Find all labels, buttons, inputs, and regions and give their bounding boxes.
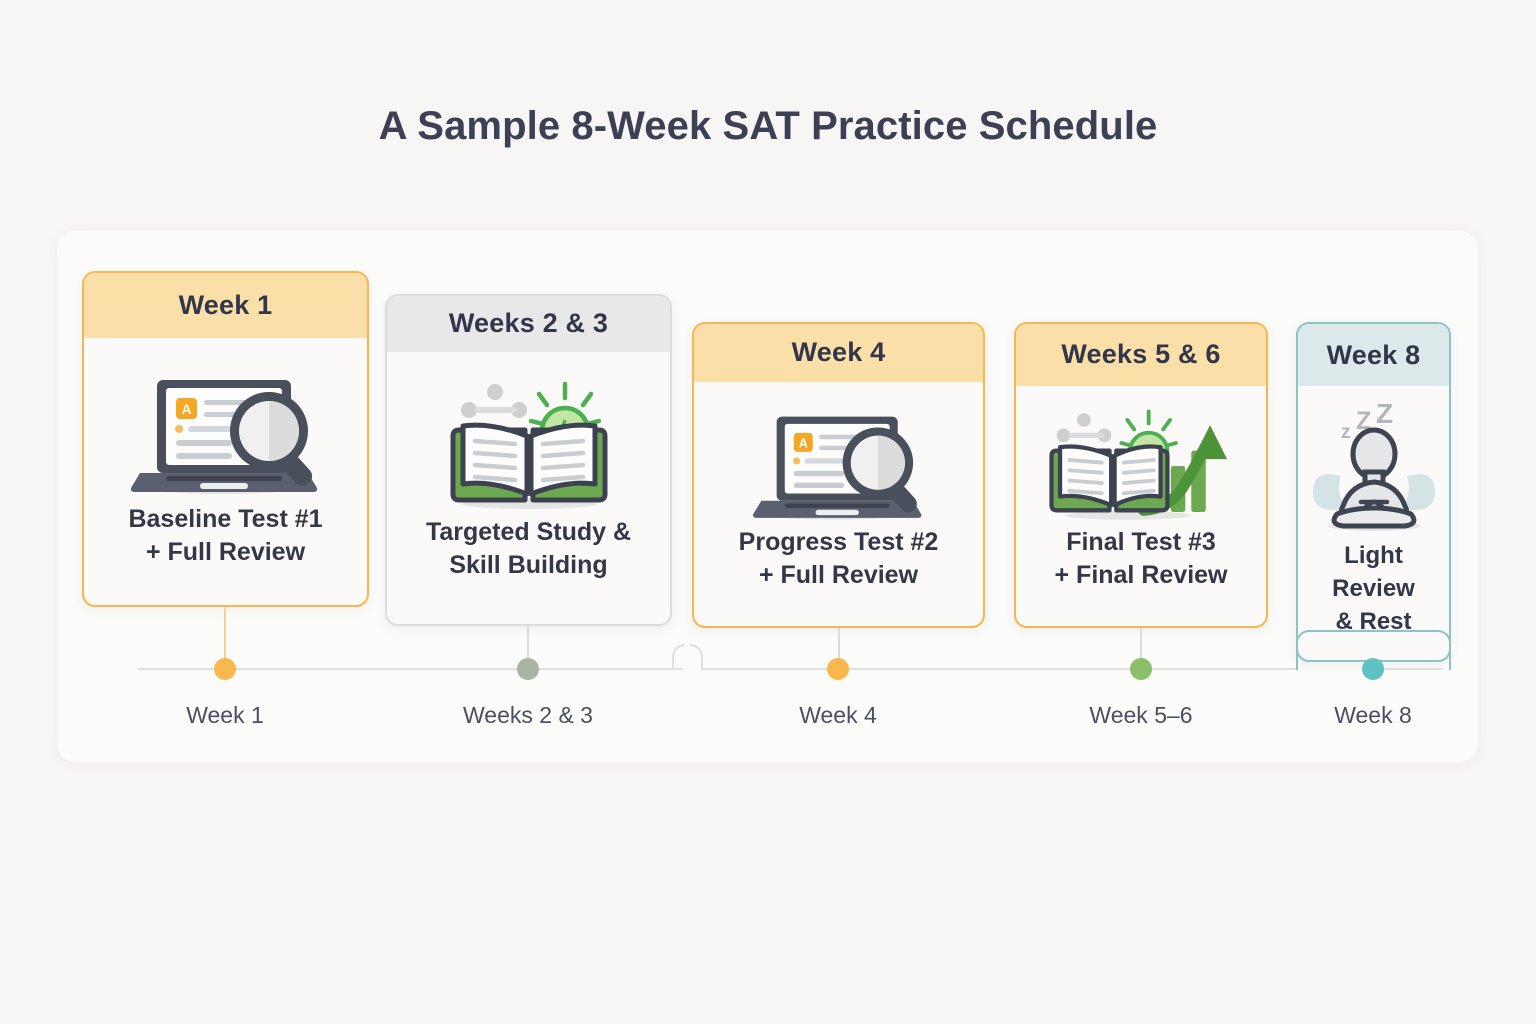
- book-lightbulb-growth-icon: [1024, 406, 1258, 526]
- timeline-segment-teal: [1310, 630, 1437, 632]
- card-week-1-label-line-1: Baseline Test #1: [128, 503, 322, 536]
- laptop-magnifier-icon: A: [92, 366, 359, 501]
- svg-text:z: z: [1341, 422, 1351, 443]
- timeline-label-week-4: Week 4: [799, 702, 877, 729]
- card-week-4-label: Progress Test #2 + Full Review: [733, 526, 945, 593]
- card-week-4[interactable]: Week 4 A: [692, 322, 985, 628]
- card-weeks-5-6[interactable]: Weeks 5 & 6: [1014, 322, 1268, 628]
- svg-text:A: A: [798, 436, 807, 450]
- card-week-8-body: z Z Z: [1298, 386, 1449, 660]
- timeline-hook-teal-right: [1437, 630, 1451, 670]
- timeline-dot-week-1[interactable]: [214, 658, 236, 680]
- card-weeks-5-6-label: Final Test #3 + Final Review: [1049, 526, 1234, 593]
- card-week-8[interactable]: Week 8 z Z Z: [1296, 322, 1451, 662]
- timeline-dot-week-8[interactable]: [1362, 658, 1384, 680]
- timeline-label-week-23: Weeks 2 & 3: [463, 702, 593, 729]
- card-weeks-2-3-label-line-1: Targeted Study &: [426, 516, 631, 549]
- card-weeks-2-3[interactable]: Weeks 2 & 3: [385, 294, 672, 626]
- timeline-dot-week-56[interactable]: [1130, 658, 1152, 680]
- card-week-4-label-line-1: Progress Test #2: [739, 526, 939, 559]
- laptop-magnifier-icon: A: [702, 404, 975, 526]
- card-weeks-2-3-heading: Weeks 2 & 3: [387, 296, 670, 352]
- card-week-1-body: A: [84, 338, 367, 605]
- card-week-1-label-line-2: + Full Review: [128, 536, 322, 569]
- page-title: A Sample 8-Week SAT Practice Schedule: [0, 104, 1536, 149]
- card-weeks-5-6-label-line-2: + Final Review: [1055, 559, 1228, 592]
- timeline-dot-week-4[interactable]: [827, 658, 849, 680]
- card-weeks-2-3-label: Targeted Study & Skill Building: [420, 516, 637, 583]
- card-weeks-2-3-label-line-2: Skill Building: [426, 549, 631, 582]
- card-week-8-label-line-1: Light: [1332, 539, 1415, 572]
- card-weeks-5-6-heading: Weeks 5 & 6: [1016, 324, 1266, 386]
- card-week-1-heading: Week 1: [84, 273, 367, 338]
- card-weeks-5-6-body: Final Test #3 + Final Review: [1016, 386, 1266, 627]
- timeline-hook-teal-left: [1296, 630, 1310, 670]
- svg-text:Z: Z: [1376, 402, 1393, 429]
- card-week-8-label: Light Review & Rest: [1326, 539, 1421, 638]
- book-lightbulb-icon: [395, 376, 662, 516]
- card-week-8-label-line-3: & Rest: [1332, 605, 1415, 638]
- timeline-segment-3: [1384, 668, 1442, 670]
- card-week-1[interactable]: Week 1 A: [82, 271, 369, 607]
- meditation-zzz-icon: z Z Z: [1306, 402, 1441, 534]
- timeline-segment-2: [701, 668, 1297, 670]
- card-weeks-2-3-body: Targeted Study & Skill Building: [387, 352, 670, 625]
- card-week-4-label-line-2: + Full Review: [739, 559, 939, 592]
- timeline-label-week-8: Week 8: [1334, 702, 1412, 729]
- timeline-hook-left: [672, 644, 685, 670]
- timeline-label-week-1: Week 1: [186, 702, 264, 729]
- svg-text:A: A: [181, 401, 191, 417]
- card-week-4-heading: Week 4: [694, 324, 983, 382]
- card-week-1-label: Baseline Test #1 + Full Review: [122, 503, 328, 570]
- timeline-dot-week-23[interactable]: [517, 658, 539, 680]
- card-week-8-heading: Week 8: [1298, 324, 1449, 386]
- timeline-label-week-56: Week 5–6: [1089, 702, 1192, 729]
- card-week-8-label-line-2: Review: [1332, 572, 1415, 605]
- card-week-4-body: A Progress Test: [694, 382, 983, 627]
- infographic-root: A Sample 8-Week SAT Practice Schedule We…: [0, 0, 1536, 1024]
- card-weeks-5-6-label-line-1: Final Test #3: [1055, 526, 1228, 559]
